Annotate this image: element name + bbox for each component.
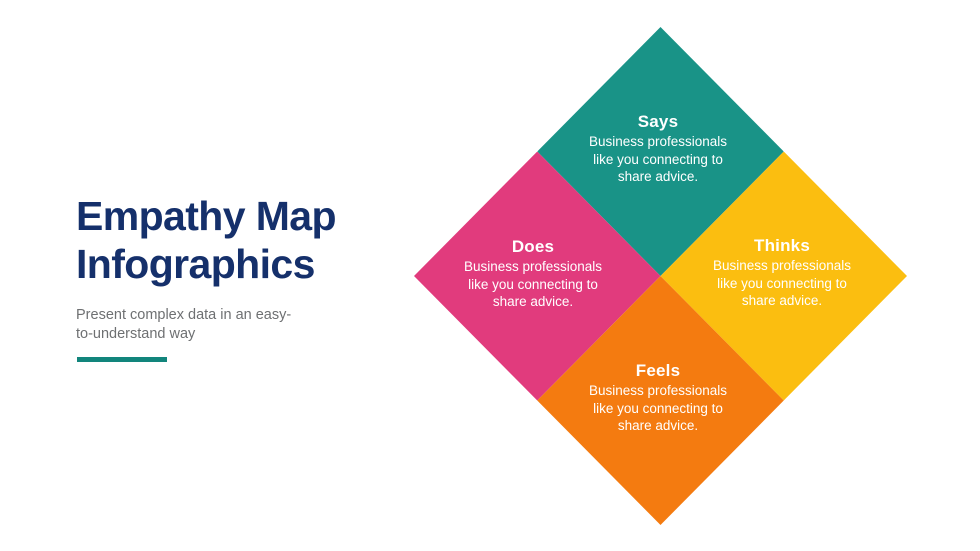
- title-block: Empathy Map Infographics Present complex…: [76, 192, 396, 344]
- page-subtitle: Present complex data in an easy- to-unde…: [76, 306, 316, 344]
- page-title: Empathy Map Infographics: [76, 192, 396, 288]
- slide-canvas: Empathy Map Infographics Present complex…: [0, 0, 980, 551]
- empathy-map-diagram: [414, 27, 907, 525]
- accent-rule-divider: [77, 357, 167, 362]
